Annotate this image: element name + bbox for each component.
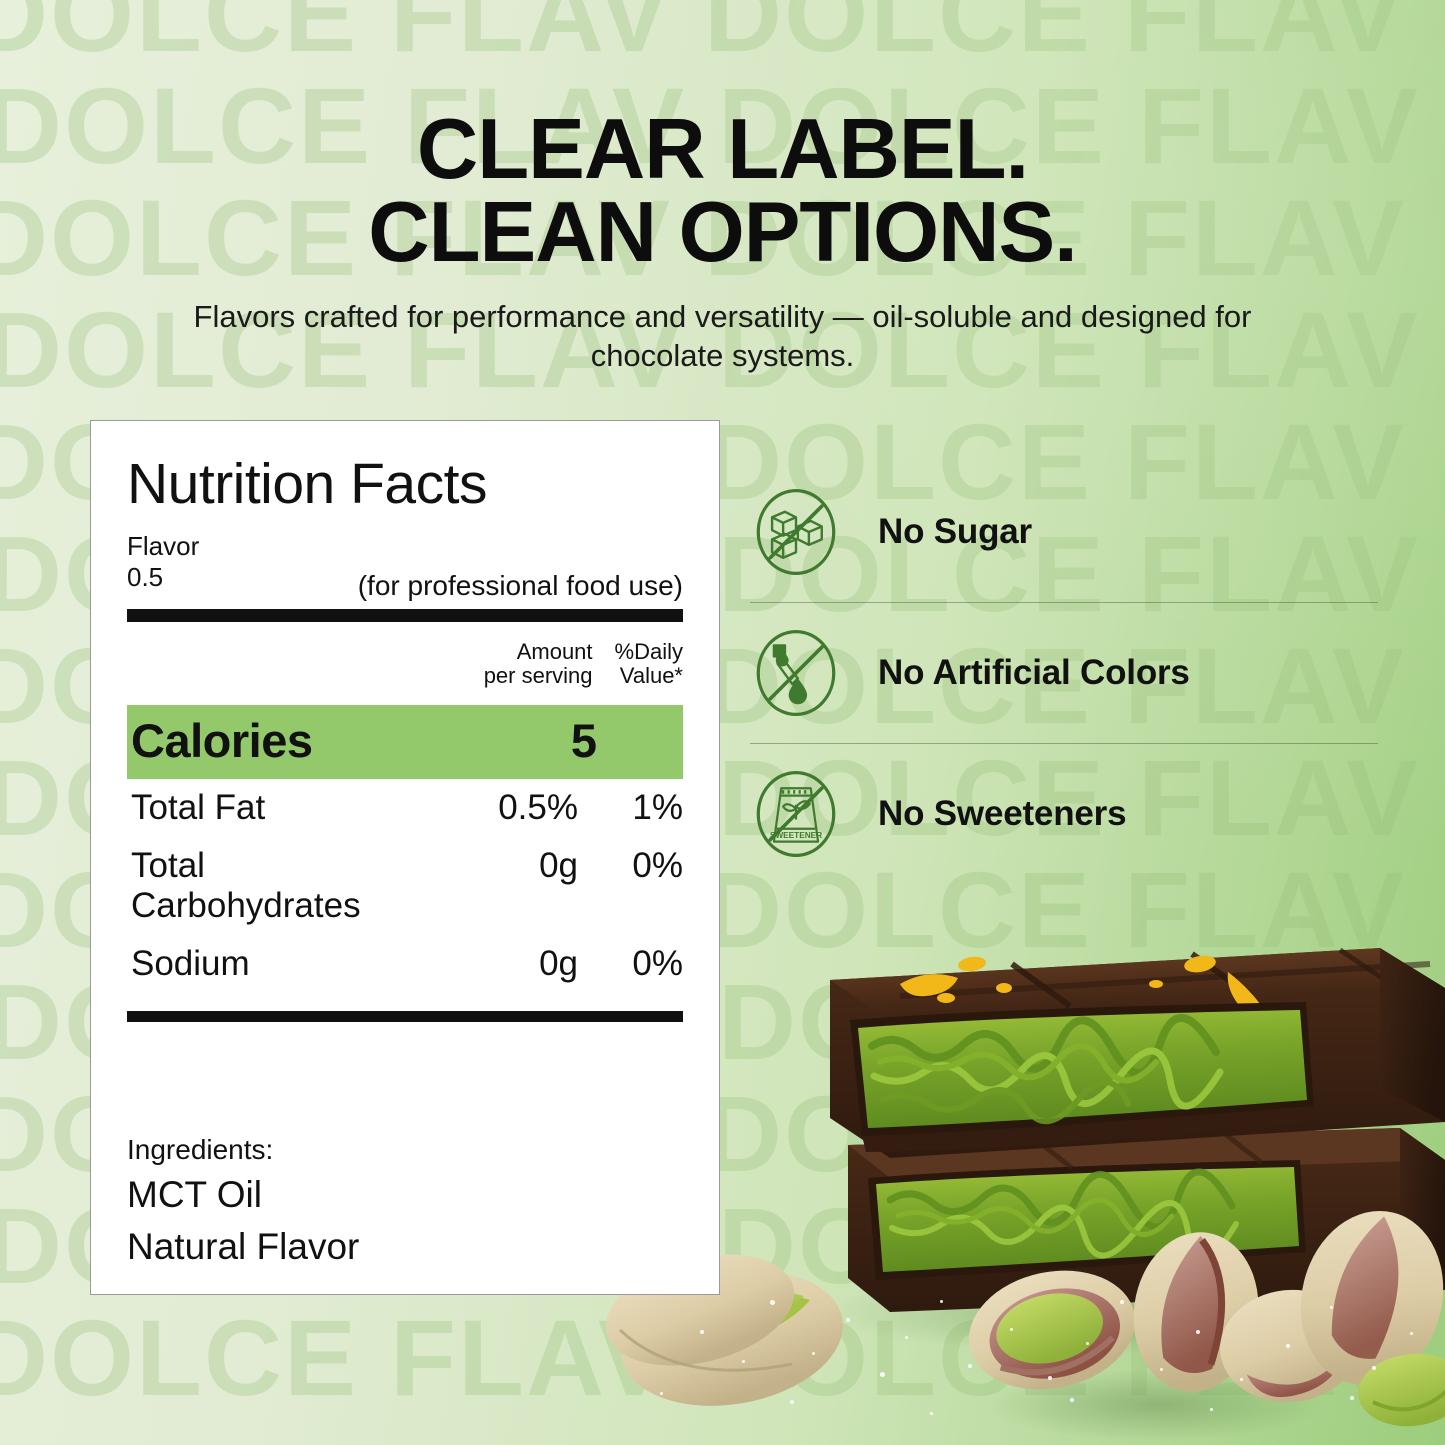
feature-row-no-sugar: No Sugar bbox=[750, 462, 1378, 602]
amount-column-header: Amount per serving bbox=[484, 640, 593, 689]
feature-list: No Sugar No Artificial Colors bbox=[750, 462, 1378, 884]
feature-row-no-artificial-colors: No Artificial Colors bbox=[750, 603, 1378, 743]
sparkle bbox=[1196, 1330, 1200, 1334]
sparkle bbox=[940, 1300, 943, 1303]
golden-drizzle bbox=[900, 953, 1411, 1042]
feature-label-no-artificial-colors: No Artificial Colors bbox=[878, 653, 1190, 693]
sparkle bbox=[1086, 1342, 1089, 1345]
daily-value-column-header: %Daily Value* bbox=[615, 640, 683, 689]
sparkle bbox=[700, 1330, 704, 1334]
sparkle bbox=[1010, 1328, 1013, 1331]
watermark-row: DOLCE FLAV DOLCE FLAV DOLCE FLAV DOLCE F… bbox=[0, 1304, 1445, 1412]
nutrition-facts-card: Nutrition Facts Flavor 0.5 (for professi… bbox=[90, 420, 720, 1295]
sparkle bbox=[905, 1336, 908, 1339]
ingredients-list: MCT OilNatural Flavor bbox=[127, 1172, 683, 1271]
sparkle bbox=[1160, 1368, 1163, 1371]
dv-header-line2: Value* bbox=[615, 664, 683, 689]
nutrient-name: Total Fat bbox=[131, 788, 428, 828]
no-sweetener-packet-icon: SWEETENER bbox=[750, 768, 842, 860]
calories-row: Calories 5 bbox=[127, 705, 683, 779]
watermark-row: DOLCE FLAV DOLCE FLAV DOLCE FLAV DOLCE F… bbox=[0, 0, 1445, 68]
column-headers: Amount per serving %Daily Value* bbox=[127, 640, 683, 705]
sparkle bbox=[1410, 1332, 1413, 1335]
sparkle bbox=[1240, 1378, 1243, 1381]
nutrient-amount: 0g bbox=[428, 846, 578, 886]
sparkle bbox=[930, 1412, 933, 1415]
sparkle bbox=[1210, 1408, 1213, 1411]
headline-line-2: CLEAN OPTIONS. bbox=[100, 191, 1345, 274]
pistachio-cluster-right bbox=[958, 1196, 1445, 1441]
nutrient-name: Sodium bbox=[131, 944, 428, 984]
no-dropper-colors-icon bbox=[750, 627, 842, 719]
sparkle bbox=[770, 1300, 775, 1305]
nutrient-daily-value: 1% bbox=[578, 788, 683, 828]
nutrient-row: Sodium0g0% bbox=[127, 935, 683, 993]
professional-use-note: (for professional food use) bbox=[358, 570, 683, 602]
headline-line-1: CLEAR LABEL. bbox=[100, 108, 1345, 191]
ingredients-label: Ingredients: bbox=[127, 1134, 683, 1166]
header: CLEAR LABEL. CLEAN OPTIONS. Flavors craf… bbox=[0, 108, 1445, 376]
sparkle bbox=[660, 1392, 663, 1395]
divider-thick-bottom bbox=[127, 1011, 683, 1022]
sparkle bbox=[790, 1400, 794, 1404]
product-photo bbox=[600, 860, 1445, 1445]
sparkle bbox=[1372, 1366, 1376, 1370]
divider-thick-top bbox=[127, 609, 683, 622]
nutrient-row: Total Fat0.5%1% bbox=[127, 779, 683, 837]
amount-header-line1: Amount bbox=[484, 640, 593, 665]
sparkle bbox=[1350, 1396, 1354, 1400]
nutrient-row: Total Carbohydrates0g0% bbox=[127, 837, 683, 935]
nutrient-daily-value: 0% bbox=[578, 944, 683, 984]
no-sugar-cubes-icon bbox=[750, 486, 842, 578]
sparkle bbox=[742, 1360, 745, 1363]
feature-label-no-sugar: No Sugar bbox=[878, 512, 1032, 552]
page-subtitle: Flavors crafted for performance and vers… bbox=[100, 297, 1345, 376]
calories-value: 5 bbox=[571, 713, 597, 768]
sparkle bbox=[1286, 1344, 1290, 1348]
sparkle bbox=[1330, 1306, 1333, 1309]
sparkle bbox=[1120, 1300, 1124, 1304]
nutrition-facts-title: Nutrition Facts bbox=[127, 455, 683, 515]
ingredients-section: Ingredients: MCT OilNatural Flavor bbox=[127, 1134, 683, 1271]
chocolate-bar-upper bbox=[830, 948, 1445, 1158]
sparkle bbox=[1048, 1376, 1052, 1380]
sparkle bbox=[968, 1364, 972, 1368]
nutrient-rows: Total Fat0.5%1%Total Carbohydrates0g0%So… bbox=[127, 779, 683, 993]
feature-row-no-sweeteners: SWEETENER No Sweeteners bbox=[750, 744, 1378, 884]
nutrient-amount: 0g bbox=[428, 944, 578, 984]
nutrient-daily-value: 0% bbox=[578, 846, 683, 886]
ingredient-item: MCT Oil bbox=[127, 1172, 683, 1218]
sparkle bbox=[812, 1352, 815, 1355]
dv-header-line1: %Daily bbox=[615, 640, 683, 665]
serving-info: Flavor 0.5 (for professional food use) bbox=[127, 531, 683, 603]
chocolate-bar-lower bbox=[848, 1128, 1445, 1312]
nutrient-name: Total Carbohydrates bbox=[131, 846, 428, 926]
serving-label: Flavor bbox=[127, 531, 683, 562]
calories-label: Calories bbox=[131, 713, 312, 768]
page-title: CLEAR LABEL. CLEAN OPTIONS. bbox=[100, 108, 1345, 275]
nutrient-amount: 0.5% bbox=[428, 788, 578, 828]
sparkle bbox=[1070, 1398, 1074, 1402]
ingredient-item: Natural Flavor bbox=[127, 1224, 683, 1270]
amount-header-line2: per serving bbox=[484, 664, 593, 689]
sparkle bbox=[846, 1318, 850, 1322]
feature-label-no-sweeteners: No Sweeteners bbox=[878, 794, 1126, 834]
sparkle bbox=[880, 1372, 885, 1377]
